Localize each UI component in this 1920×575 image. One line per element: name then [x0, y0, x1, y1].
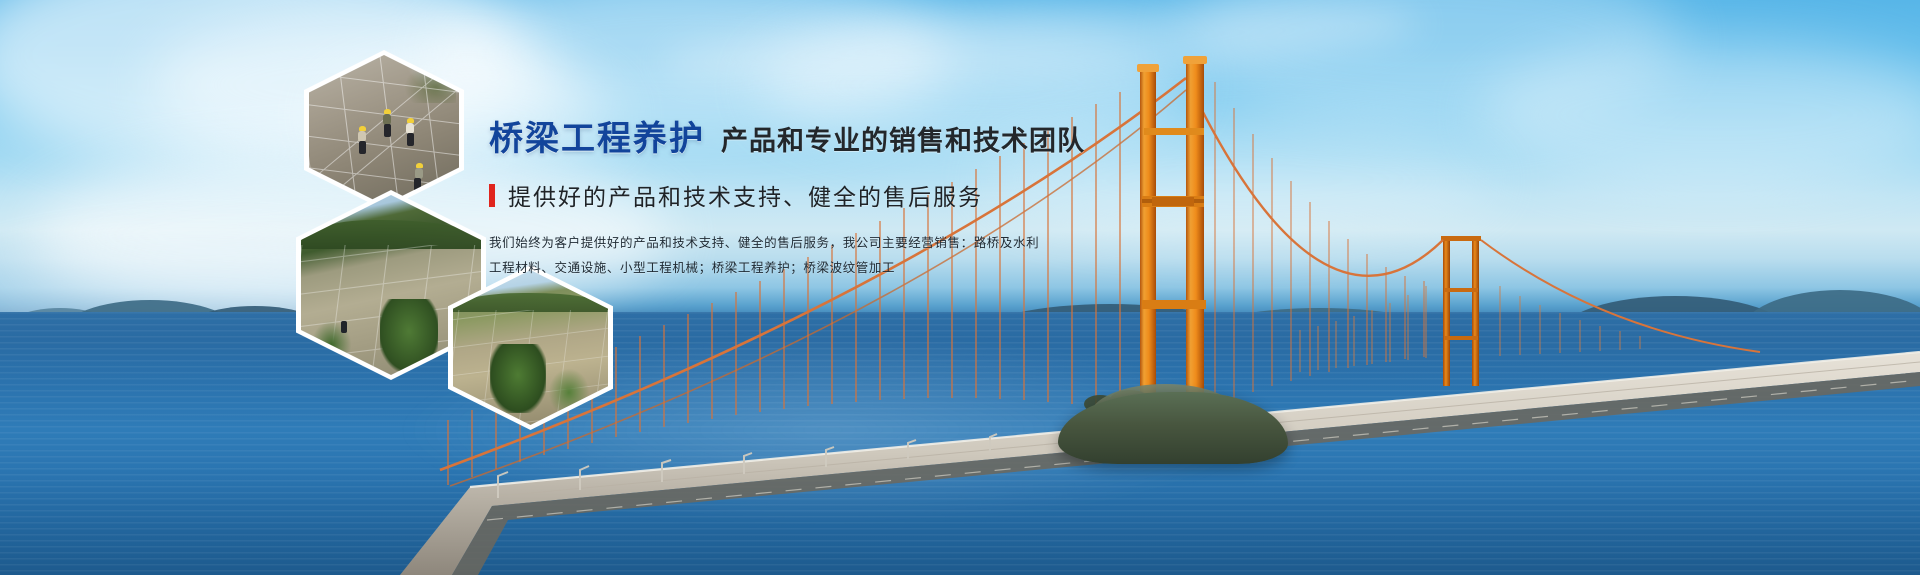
body-line: 我们始终为客户提供好的产品和技术支持、健全的售后服务，我公司主要经营销售：路桥及…	[489, 234, 1049, 253]
suspension-bridge	[0, 0, 1920, 575]
headline-row: 桥梁工程养护 产品和专业的销售和技术团队	[489, 122, 1049, 156]
bridge-tower-far	[1441, 236, 1481, 386]
bridge-tower-main	[1137, 56, 1207, 422]
hex-photo-inner	[309, 55, 459, 205]
subheadline-text: 提供好的产品和技术支持、健全的售后服务	[508, 178, 983, 212]
body-line: 工程材料、交通设施、小型工程机械；桥梁工程养护；桥梁波纹管加工	[489, 259, 1049, 278]
headline-secondary: 产品和专业的销售和技术团队	[721, 128, 1085, 155]
hero-banner: 桥梁工程养护 产品和专业的销售和技术团队 提供好的产品和技术支持、健全的售后服务…	[0, 0, 1920, 575]
hex-photo-rock-slope-mesh[interactable]	[304, 50, 464, 210]
body-paragraph: 我们始终为客户提供好的产品和技术支持、健全的售后服务，我公司主要经营销售：路桥及…	[489, 234, 1049, 279]
worker-figure	[341, 321, 347, 333]
hex-photo-inner	[453, 270, 608, 425]
subheadline-row: 提供好的产品和技术支持、健全的售后服务	[489, 178, 1049, 212]
banner-copy: 桥梁工程养护 产品和专业的销售和技术团队 提供好的产品和技术支持、健全的售后服务…	[489, 122, 1049, 285]
bridge-hangers-far	[1300, 286, 1640, 372]
photo-hillside-mesh	[453, 270, 608, 425]
photo-rock-slope	[309, 55, 459, 205]
headline-primary: 桥梁工程养护	[489, 122, 705, 156]
accent-bar	[489, 184, 495, 207]
